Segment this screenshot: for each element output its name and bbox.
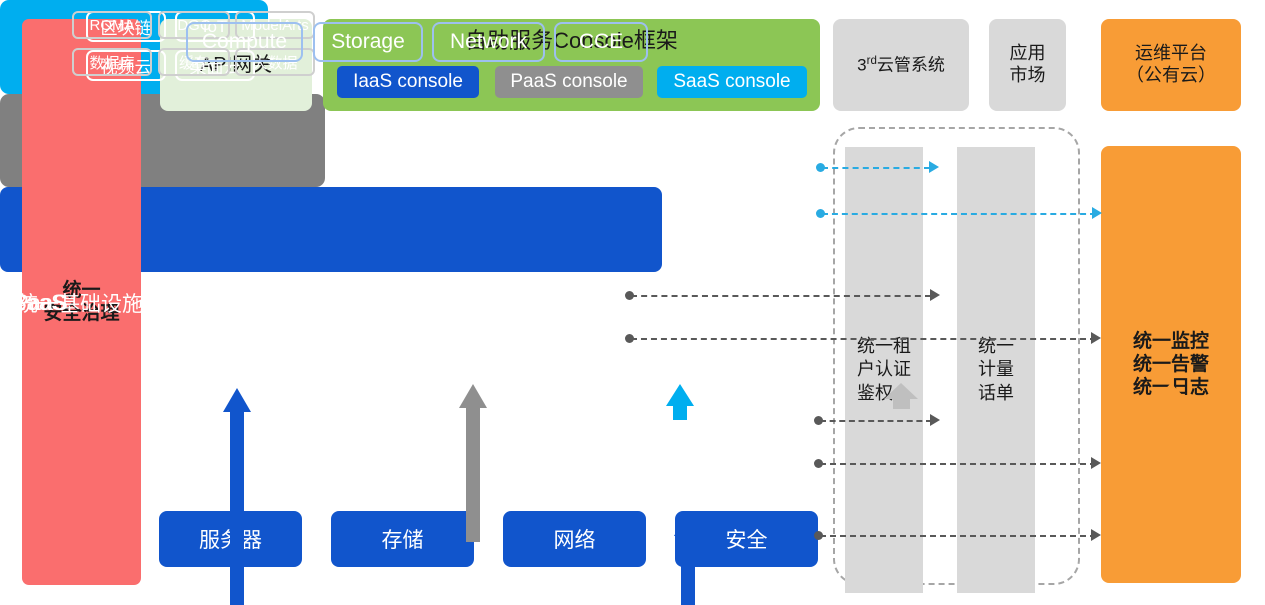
console-chip-saas[interactable]: SaaS console bbox=[657, 66, 807, 98]
connector-arrowhead-infra-auth bbox=[930, 414, 940, 426]
connector-line-infra-to-auth bbox=[820, 420, 932, 422]
connector-arrowhead-paas-om bbox=[1091, 332, 1101, 344]
shared-service-billing-label: 统一计量话单 bbox=[978, 335, 1014, 405]
hardware-box-storage[interactable]: 存储 bbox=[331, 511, 474, 567]
connector-line-hardware-to-om bbox=[820, 535, 1096, 537]
connector-line-saas-to-auth bbox=[822, 167, 930, 169]
connector-arrowhead-paas-auth bbox=[930, 289, 940, 301]
connector-line-paas-to-auth bbox=[631, 295, 931, 297]
om-platform-panel: 统一监控统一告警统一日志 bbox=[1101, 146, 1241, 583]
hardware-box-network[interactable]: 网络 bbox=[503, 511, 646, 567]
paas-chip-database[interactable]: 数据库 bbox=[72, 48, 152, 76]
connector-arrowhead-hardware-om bbox=[1091, 529, 1101, 541]
console-chip-iaas[interactable]: IaaS console bbox=[337, 66, 479, 98]
infra-chip-network[interactable]: Network bbox=[432, 22, 545, 62]
paas-chip-roma[interactable]: ROMA bbox=[72, 11, 152, 39]
om-platform-top-box: 运维平台（公有云） bbox=[1101, 19, 1241, 111]
console-chip-paas[interactable]: PaaS console bbox=[495, 66, 643, 98]
connector-line-infra-to-om bbox=[820, 463, 1096, 465]
third-party-cloud-mgmt-box: 3rd云管系统 bbox=[833, 19, 969, 111]
third-party-suffix: 云管系统 bbox=[877, 55, 945, 74]
infra-chip-cce[interactable]: CCE bbox=[554, 22, 648, 62]
third-party-prefix: 3 bbox=[857, 55, 866, 74]
architecture-diagram: 统一安全治理 API网关 自助服务Console框架 IaaS console … bbox=[0, 0, 1265, 605]
om-platform-top-label: 运维平台（公有云） bbox=[1126, 43, 1216, 87]
connector-arrowhead-saas-om bbox=[1092, 207, 1102, 219]
connector-line-paas-to-om bbox=[631, 338, 1096, 340]
infra-chip-storage[interactable]: Storage bbox=[313, 22, 423, 62]
connector-arrowhead-infra-om bbox=[1091, 457, 1101, 469]
connector-line-saas-to-om bbox=[822, 213, 1096, 215]
app-market-box: 应用市场 bbox=[989, 19, 1066, 111]
infra-chip-compute[interactable]: Compute bbox=[186, 22, 303, 62]
third-party-cloud-mgmt-label: 3rd云管系统 bbox=[857, 54, 945, 76]
third-party-ordinal: rd bbox=[867, 55, 877, 67]
unified-infrastructure-label: 统一基础设施服务 bbox=[17, 288, 185, 318]
app-market-label: 应用市场 bbox=[1010, 43, 1046, 87]
connector-arrowhead-saas-auth bbox=[929, 161, 939, 173]
